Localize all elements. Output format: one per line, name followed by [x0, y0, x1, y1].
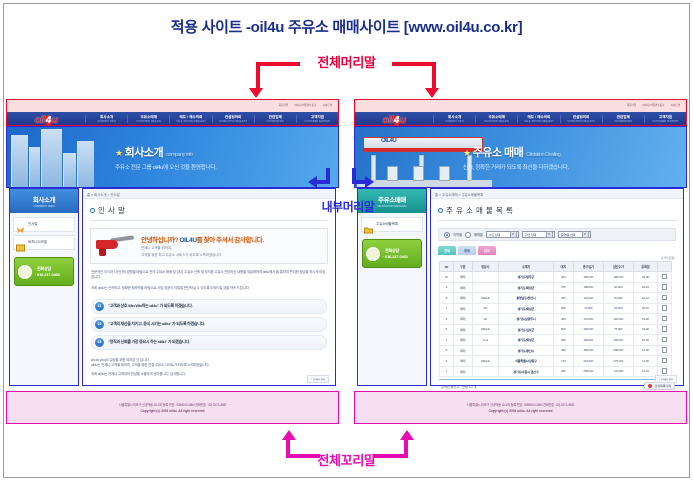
- cell-land: 300: [553, 335, 573, 346]
- greeting-sub2: 고객을 위한 최고 주유소 서비스가 되도록 노력하겠습니다.: [141, 253, 264, 258]
- cell-no: 6: [440, 314, 454, 325]
- cell-no: 4: [440, 335, 454, 346]
- site-logo[interactable]: oil4u: [7, 110, 85, 128]
- row-checkbox[interactable]: [662, 295, 668, 301]
- footer-address: 서울특별시 마포구 신공덕동 20-1외 등록 번호 : 9259000-189…: [467, 402, 575, 407]
- cell-type: 매매: [453, 314, 472, 325]
- divider: [90, 220, 328, 221]
- select-gugun[interactable]: 구/군 선택 ▾: [522, 231, 555, 238]
- list-item-number: 01: [95, 302, 104, 311]
- chevron-down-icon: ▾: [546, 231, 553, 238]
- greeting-brand: OIL4U: [179, 237, 196, 244]
- tel-number: · 016-217-0465: [35, 272, 60, 277]
- main-nav: oil4u 회사소개 COMPANY INFO 주유소매매 OILSTATION…: [7, 112, 338, 125]
- row-checkbox-cell[interactable]: [657, 303, 671, 314]
- radio-deal-label: 매매별: [474, 232, 483, 237]
- table-row[interactable]: 9매매경기도/화성군700100,00090,00003-23: [440, 282, 672, 293]
- table-row[interactable]: 7매매SK경기도/화성군60072,00043,00002-07: [440, 303, 672, 314]
- cell-land: 200: [553, 272, 573, 283]
- hero-subtitle: 신속, 정확한 거래가 되도록 최선을 다하겠습니다.: [463, 163, 569, 171]
- content-title-text: 주 유 소 매 물 목 록: [446, 205, 513, 216]
- table-row[interactable]: 8매매Oilbank충청남도/천안시300120,00090,00002-12: [440, 293, 672, 304]
- cell-total-price: 100,000: [573, 282, 603, 293]
- hero-banner-right: OIL4U ★주유소 매매Oilstation Dealing 신속, 정확한 …: [354, 126, 687, 188]
- nav-label-en: CUSTOMER SUPPORT: [645, 120, 686, 123]
- hero-banner-left: ★회사소개company info 주유소 전문 그룹 oil4u에 오신 것을…: [6, 126, 339, 188]
- row-checkbox[interactable]: [662, 274, 668, 280]
- utility-link-findid[interactable]: 아이디/비밀번호찾기: [642, 103, 664, 108]
- select-gugun-value: 구/군 선택: [525, 233, 537, 237]
- cell-date: 02-07: [633, 303, 657, 314]
- table-row[interactable]: 2매매Oilbank서울특별시/강동구170210,000175,00012-0…: [440, 356, 672, 367]
- table-header-row: no 구분 정유사 소재지 대지 총구입가 실인수가 등록일: [440, 262, 672, 272]
- search-filter-bar: 지역별 매매별 시/도 선택 ▾ 구/군 선택 ▾ 읍/면/동 선택 ▾: [438, 228, 676, 241]
- cell-location: 충청남도/천안시: [499, 293, 554, 304]
- closing-line-2: oil4u는 언제나 고객을 위하여, 고객을 위한 연결 주유소 사이트가 되…: [91, 363, 327, 368]
- logo-badge: 4: [45, 115, 52, 126]
- fuel-nozzle-icon: [96, 234, 136, 258]
- row-checkbox-cell[interactable]: [657, 282, 671, 293]
- table-row[interactable]: 4매매S-oil경기도/화성군300160,000120,00001-20: [440, 335, 672, 346]
- footer-copyright: Copyright (c) 2003 oil4u. All right rese…: [140, 409, 204, 413]
- delete-button-label: 선택목록삭제: [654, 384, 671, 388]
- radio-region[interactable]: [444, 232, 450, 238]
- station-table: no 구분 정유사 소재지 대지 총구입가 실인수가 등록일 10매매경기도/양…: [439, 261, 672, 377]
- intro-paragraph-1: 전문적인 지식과 다년간의 경험을 바탕으로 전국 주요소 매매 및 임대, 주…: [91, 270, 327, 280]
- cell-type: 매매: [453, 366, 472, 377]
- list-item-label: "고객의 재산을 지키고, 증식 시키는 oil4u" 가 되도록 하겠습니다.: [108, 321, 205, 327]
- delete-selected-button[interactable]: 선택목록삭제: [644, 382, 675, 390]
- tel-consult-box[interactable]: · 전화상담 · 016-217-0465: [362, 239, 422, 268]
- star-icon: ★: [463, 148, 471, 158]
- cell-total-price: 170,000: [573, 314, 603, 325]
- list-item-label: "고객과 상호 Win Win하는 oil4u" 가 되도록 하겠습니다.: [108, 303, 192, 309]
- cell-location: 경기도/화성군: [499, 282, 554, 293]
- cell-refiner: [472, 366, 499, 377]
- cell-real-price: 175,000: [603, 356, 633, 367]
- lnb-item-greeting[interactable]: 인사말: [13, 217, 75, 232]
- cell-refiner: Oilbank: [472, 324, 499, 335]
- cell-refiner: [472, 345, 499, 356]
- logo-prefix: oil: [383, 115, 393, 126]
- cell-no: 3: [440, 345, 454, 356]
- cell-refiner: Oilbank: [472, 356, 499, 367]
- nav-label-en: CONSULTING REQUEST: [561, 120, 602, 123]
- list-item: 02 "고객의 재산을 지키고, 증식 시키는 oil4u" 가 되도록 하겠습…: [91, 317, 327, 332]
- lnb-item-station-list[interactable]: 주유소매물목록: [361, 217, 423, 232]
- nav-item-request[interactable]: 매도 / 매수의뢰 SALE / BUYING REQUEST: [517, 115, 559, 123]
- th-refiner: 정유사: [472, 262, 499, 272]
- list-item-number: 02: [95, 320, 104, 329]
- cell-land: 400: [553, 345, 573, 356]
- chevron-down-icon: ▾: [582, 231, 589, 238]
- list-item-label: "정직과 신뢰를 가장 중요시 하는 oil4u" 가 되겠습니다.: [108, 339, 190, 345]
- cell-refiner: [472, 272, 499, 283]
- cell-location: 경기도/화성군: [499, 303, 554, 314]
- site-header-right: 회원가입 아이디/비밀번호찾기 사이트맵 oil4u 회사소개 COMPANY …: [354, 99, 687, 126]
- greeting-headline-c: 를 찾아 주셔서 감사합니다.: [197, 237, 264, 244]
- cell-date: 01-28: [633, 314, 657, 325]
- cell-type: 매매: [453, 282, 472, 293]
- hero-title-text: 주유소 매매: [473, 147, 524, 159]
- list-item: 03 "정직과 신뢰를 가장 중요시 하는 oil4u" 가 되겠습니다.: [91, 335, 327, 350]
- nav-label-en: CONSULTING REQUEST: [213, 120, 254, 123]
- cell-date: 12-04: [633, 366, 657, 377]
- row-checkbox-cell[interactable]: [657, 272, 671, 283]
- divider: [438, 220, 676, 221]
- logo-suffix: u: [400, 115, 406, 126]
- site-header-left: 회원가입 아이디/비밀번호찾기 사이트맵 oil4u 회사소개 COMPANY …: [6, 99, 339, 126]
- lnb-header-en: COMPANY INFO: [33, 204, 54, 208]
- star-icon: ★: [115, 148, 123, 158]
- cell-type: 매매: [453, 356, 472, 367]
- cell-land: 500: [553, 324, 573, 335]
- logo-prefix: oil: [35, 115, 45, 126]
- tab-label: 임대: [484, 248, 490, 253]
- cell-total-price: 160,000: [573, 335, 603, 346]
- tab-all[interactable]: 전체: [438, 246, 456, 255]
- row-checkbox[interactable]: [662, 337, 668, 343]
- site-logo[interactable]: oil4u: [355, 110, 433, 128]
- nav-label-en: COMPANY INFO: [434, 120, 475, 123]
- cell-location: 경기도/수원시 권선구: [499, 366, 554, 377]
- row-checkbox-cell[interactable]: [657, 345, 671, 356]
- cell-real-price: 120,000: [603, 335, 633, 346]
- closing-line-3: 저희 oil4u는 언제나 고객과의 만남을 소중하게 생각합니다. 감사합니다…: [91, 372, 327, 377]
- cell-no: 7: [440, 303, 454, 314]
- table-footer: · 검색된 물건수 : 현재 10 개 선택목록삭제: [439, 379, 675, 390]
- cell-real-price: 75,000: [603, 324, 633, 335]
- nav-label-en: COMPANY INFO: [86, 120, 127, 123]
- cell-total-price: 105,000: [573, 272, 603, 283]
- cell-location: 경기도/김포군: [499, 324, 554, 335]
- radio-region-label: 지역별: [453, 232, 462, 237]
- result-count: · 검색된 물건수 : 현재 10 개: [439, 384, 476, 389]
- cell-total-price: 250,000: [573, 366, 603, 377]
- hero-title-text: 회사소개: [125, 147, 163, 159]
- greeting-sub1: 언제나 고객을 위하여,: [141, 246, 264, 251]
- nav-item-company[interactable]: 회사소개 COMPANY INFO: [433, 115, 475, 123]
- row-checkbox-cell[interactable]: [657, 293, 671, 304]
- footer-address: 서울특별시 마포구 신공덕동 20-1외 등록 번호 : 9259000-189…: [119, 402, 227, 407]
- arrow-down-left-icon: [249, 88, 263, 98]
- nav-item-consulting[interactable]: 컨설팅의뢰 CONSULTING REQUEST: [212, 115, 254, 123]
- greeting-box: 안녕하십니까? OIL4U를 찾아 주셔서 감사합니다. 언제나 고객을 위하여…: [90, 228, 328, 264]
- th-check: [657, 262, 671, 272]
- select-sido[interactable]: 시/도 선택 ▾: [486, 231, 519, 238]
- browser-preview-right: 회원가입 아이디/비밀번호찾기 사이트맵 oil4u 회사소개 COMPANY …: [354, 99, 687, 429]
- arrow-up-right-icon: [400, 430, 414, 440]
- cell-date: 01-28: [633, 324, 657, 335]
- main-nav: oil4u 회사소개 COMPANY INFO 주유소매매 OILSTATION…: [355, 112, 686, 125]
- left-nav-panel: 주유소매매 OILSTATION DEALING 주유소매물목록 · 전화상담 …: [357, 188, 427, 386]
- cell-type: 매매: [453, 293, 472, 304]
- tab-label: 전체: [444, 248, 450, 253]
- cell-type: 매매: [453, 303, 472, 314]
- bullet-icon: [90, 208, 95, 213]
- station-sign-text: OIL4U: [381, 138, 396, 144]
- cell-land: 170: [553, 356, 573, 367]
- cell-type: 매매: [453, 324, 472, 335]
- select-sido-value: 시/도 선택: [489, 233, 501, 237]
- cell-type: 매매: [453, 345, 472, 356]
- content-title-text: 인 사 말: [98, 205, 125, 216]
- nav-item-company[interactable]: 회사소개 COMPANY INFO: [85, 115, 127, 123]
- row-checkbox[interactable]: [662, 347, 668, 353]
- cell-real-price: 120,000: [603, 314, 633, 325]
- content-panel-left: 홈 > 회사소개 > 인사말 인 사 말 안녕하십니까? OIL4U를 찾아 주…: [82, 188, 336, 386]
- cell-land: 260: [553, 366, 573, 377]
- cell-refiner: SK: [472, 314, 499, 325]
- annotation-header-bracket: [256, 62, 436, 72]
- table-row[interactable]: 5매매Oilbank경기도/김포군500105,00075,00001-28: [440, 324, 672, 335]
- cell-date: 12-06: [633, 345, 657, 356]
- list-item: 01 "고객과 상호 Win Win하는 oil4u" 가 되도록 하겠습니다.: [91, 299, 327, 314]
- arrow-up-left-icon: [282, 430, 296, 440]
- cell-total-price: 105,000: [573, 324, 603, 335]
- row-checkbox[interactable]: [662, 326, 668, 332]
- row-checkbox[interactable]: [662, 358, 668, 364]
- hero-title-en: Oilstation Dealing: [526, 152, 560, 158]
- th-location: 소재지: [499, 262, 554, 272]
- cell-type: 매매: [453, 272, 472, 283]
- cell-land: 300: [553, 293, 573, 304]
- annotation-inner-arrow-right: [348, 168, 370, 190]
- list-tabs: 전체 매매 임대: [438, 246, 683, 255]
- select-dong-value: 읍/면/동 선택: [561, 233, 576, 237]
- ribbon-icon: [16, 221, 25, 229]
- cell-refiner: Oilbank: [472, 293, 499, 304]
- arrow-down-right-icon: [425, 88, 439, 98]
- row-checkbox-cell[interactable]: [657, 335, 671, 346]
- cell-location: 경기도/화성군: [499, 335, 554, 346]
- table-row[interactable]: 6매매SK경기도/남양주시450170,000120,00001-28: [440, 314, 672, 325]
- left-nav-panel: 회사소개 COMPANY INFO 인사말 비즈니스모델: [9, 188, 79, 386]
- cell-no: 10: [440, 272, 454, 283]
- cell-real-price: 90,000: [603, 293, 633, 304]
- lnb-item-label: 비즈니스모델: [28, 240, 47, 245]
- page-title: 적용 사이트 -oil4u 주유소 매매사이트 [www.oil4u.co.kr…: [0, 16, 693, 37]
- site-footer-left: 서울특별시 마포구 신공덕동 20-1외 등록 번호 : 9259000-189…: [6, 391, 339, 424]
- tab-label: 매매: [464, 248, 470, 253]
- folder-icon: [364, 221, 373, 229]
- logo-suffix: u: [52, 115, 58, 126]
- cell-total-price: 210,000: [573, 356, 603, 367]
- nav-label-en: SALE / BUYING REQUEST: [518, 120, 559, 123]
- th-no: no: [440, 262, 454, 272]
- greeting-headline-a: 안녕하십니까?: [141, 237, 179, 244]
- row-checkbox[interactable]: [662, 368, 668, 374]
- nav-label-en: CUSTOMER SUPPORT: [297, 120, 338, 123]
- tel-consult-box[interactable]: · 전화상담 · 016-217-0465: [14, 257, 74, 286]
- cell-no: 2: [440, 356, 454, 367]
- nav-item-partners[interactable]: 관련업체 COOPERATION: [254, 115, 296, 123]
- nav-item-dealing[interactable]: 주유소매매 OILSTATION DEALING: [127, 115, 169, 123]
- nav-label-en: COOPERATION: [255, 120, 296, 123]
- annotation-inner-label: 내부머리말: [298, 198, 398, 215]
- hero-title-en: company info: [166, 152, 193, 158]
- promise-list: 01 "고객과 상호 Win Win하는 oil4u" 가 되도록 하겠습니다.…: [91, 299, 327, 350]
- utility-link-join[interactable]: 회원가입: [279, 103, 289, 108]
- phone-icon: [366, 247, 380, 261]
- footer-copyright: Copyright (c) 2003 oil4u. All right rese…: [488, 409, 552, 413]
- cell-land: 450: [553, 314, 573, 325]
- row-checkbox-cell[interactable]: [657, 314, 671, 325]
- site-footer-right: 서울특별시 마포구 신공덕동 20-1외 등록 번호 : 9259000-189…: [354, 391, 687, 424]
- row-checkbox[interactable]: [662, 305, 668, 311]
- annotation-header-stems: [256, 74, 436, 96]
- nav-item-partners[interactable]: 관련업체 COOPERATION: [602, 115, 644, 123]
- utility-link-sitemap[interactable]: 사이트맵: [322, 103, 332, 108]
- cell-land: 700: [553, 282, 573, 293]
- cell-land: 600: [553, 303, 573, 314]
- cell-no: 8: [440, 293, 454, 304]
- tab-sale[interactable]: 매매: [458, 246, 476, 255]
- cell-refiner: SK: [472, 303, 499, 314]
- nav-item-dealing[interactable]: 주유소매매 OILSTATION DEALING: [475, 115, 517, 123]
- bullet-icon: [438, 208, 443, 213]
- chevron-down-icon: ▾: [510, 231, 517, 238]
- row-checkbox-cell[interactable]: [657, 356, 671, 367]
- browser-preview-left: 회원가입 아이디/비밀번호찾기 사이트맵 oil4u 회사소개 COMPANY …: [6, 99, 339, 429]
- nav-label-en: SALE / BUYING REQUEST: [170, 120, 211, 123]
- page-top-button[interactable]: ↑ page top: [655, 375, 677, 383]
- cell-date: 01-20: [633, 335, 657, 346]
- lnb-item-business-model[interactable]: 비즈니스모델: [13, 235, 75, 250]
- lnb-item-label: 주유소매물목록: [376, 222, 398, 227]
- radio-deal[interactable]: [465, 232, 471, 238]
- breadcrumb: 홈 > 주유소매매 > 주유소매물목록: [431, 189, 683, 199]
- hero-subtitle: 주유소 전문 그룹 oil4u에 오신 것을 환영합니다.: [115, 163, 216, 171]
- logo-badge: 4: [393, 115, 400, 126]
- table-row[interactable]: 10매매경기도/양주군200105,000105,00004-08: [440, 272, 672, 283]
- cell-type: 매매: [453, 335, 472, 346]
- annotation-footer-label: 전체꼬리말: [0, 450, 693, 469]
- cell-no: 1: [440, 366, 454, 377]
- row-checkbox[interactable]: [662, 284, 668, 290]
- lnb-item-label: 인사말: [28, 222, 37, 227]
- row-checkbox[interactable]: [662, 316, 668, 322]
- cell-date: 03-23: [633, 282, 657, 293]
- th-land: 대지: [553, 262, 573, 272]
- tab-rent[interactable]: 임대: [478, 246, 496, 255]
- nav-label-en: OILSTATION DEALING: [476, 120, 517, 123]
- unit-note: (단위:만원): [431, 256, 675, 260]
- cell-real-price: 105,000: [603, 272, 633, 283]
- content-title: 주 유 소 매 물 목 록: [431, 199, 683, 220]
- cell-location: 경기도/남양주시: [499, 314, 554, 325]
- tel-number: · 016-217-0465: [383, 254, 408, 259]
- th-total-price: 총구입가: [573, 262, 603, 272]
- intro-paragraph-2: 저희 oil4u는 신속하고, 정확한 정보력을 바탕으로 사업 성공이 이뤄질…: [91, 286, 327, 291]
- lnb-header: 회사소개 COMPANY INFO: [10, 189, 78, 214]
- cell-refiner: S-oil: [472, 335, 499, 346]
- nav-item-consulting[interactable]: 컨설팅의뢰 CONSULTING REQUEST: [560, 115, 602, 123]
- list-item-number: 03: [95, 338, 104, 347]
- content-panel-right: 홈 > 주유소매매 > 주유소매물목록 주 유 소 매 물 목 록 지역별 매매…: [430, 188, 684, 386]
- lnb-header-ko: 회사소개: [33, 194, 55, 204]
- row-checkbox-cell[interactable]: [657, 324, 671, 335]
- cell-total-price: 300,000: [573, 345, 603, 356]
- table-row[interactable]: 1매매경기도/수원시 권선구260250,000170,00012-04: [440, 366, 672, 377]
- nav-label-en: OILSTATION DEALING: [128, 120, 169, 123]
- cell-no: 5: [440, 324, 454, 335]
- utility-link-join[interactable]: 회원가입: [627, 103, 637, 108]
- table-body: 10매매경기도/양주군200105,000105,00004-089매매경기도/…: [440, 272, 672, 377]
- nav-item-support[interactable]: 고객지원 CUSTOMER SUPPORT: [296, 115, 338, 123]
- th-date: 등록일: [633, 262, 657, 272]
- cell-real-price: 200,000: [603, 345, 633, 356]
- phone-icon: [18, 265, 32, 279]
- cell-no: 9: [440, 282, 454, 293]
- cell-location: 경기도/용인시: [499, 345, 554, 356]
- cell-refiner: [472, 282, 499, 293]
- annotation-inner-arrow-left: [316, 168, 336, 190]
- delete-icon: [648, 384, 652, 388]
- select-dong[interactable]: 읍/면/동 선택 ▾: [558, 231, 591, 238]
- building-illustration: [7, 127, 127, 187]
- page-top-button[interactable]: ↑ page top: [307, 375, 329, 383]
- th-type: 구분: [453, 262, 472, 272]
- cell-total-price: 120,000: [573, 293, 603, 304]
- cell-real-price: 43,000: [603, 303, 633, 314]
- utility-link-findid[interactable]: 아이디/비밀번호찾기: [294, 103, 316, 108]
- cell-real-price: 170,000: [603, 366, 633, 377]
- nav-label-en: COOPERATION: [603, 120, 644, 123]
- table-row[interactable]: 3매매경기도/용인시400300,000200,00012-06: [440, 345, 672, 356]
- nav-item-request[interactable]: 매도 / 매수의뢰 SALE / BUYING REQUEST: [169, 115, 211, 123]
- book-icon: [16, 239, 25, 247]
- th-real-price: 실인수가: [603, 262, 633, 272]
- cell-total-price: 72,000: [573, 303, 603, 314]
- utility-link-sitemap[interactable]: 사이트맵: [670, 103, 680, 108]
- cell-location: 경기도/양주군: [499, 272, 554, 283]
- cell-date: 12-06: [633, 356, 657, 367]
- nav-item-support[interactable]: 고객지원 CUSTOMER SUPPORT: [644, 115, 686, 123]
- cell-location: 서울특별시/강동구: [499, 356, 554, 367]
- cell-date: 02-12: [633, 293, 657, 304]
- cell-real-price: 90,000: [603, 282, 633, 293]
- cell-date: 04-08: [633, 272, 657, 283]
